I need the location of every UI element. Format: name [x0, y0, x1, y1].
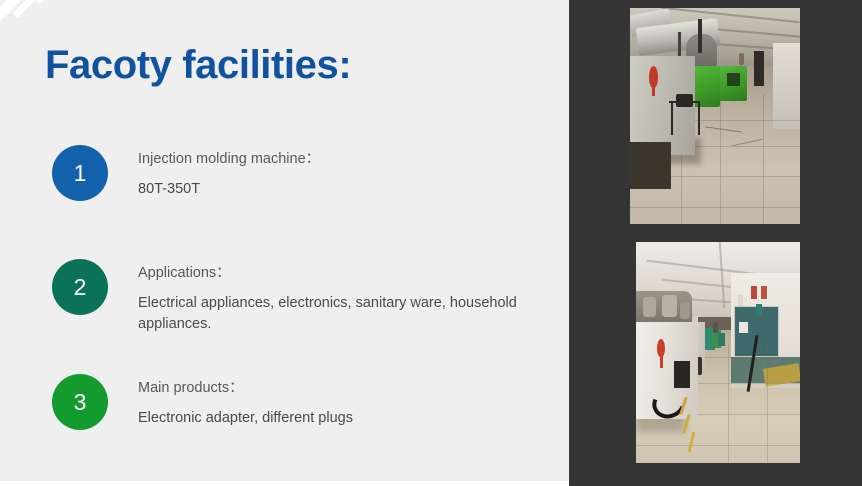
- photo1-motor-unit: [676, 94, 693, 107]
- list-item: 2 Applications： Electrical appliances, e…: [52, 259, 538, 335]
- photo2-wall-poster: [751, 286, 758, 299]
- factory-photo-bottom-content: [636, 242, 800, 463]
- photo1-floor-line: [763, 94, 764, 224]
- photo2-floor-line: [636, 445, 800, 446]
- factory-photo-top-content: [630, 8, 800, 224]
- photo1-post: [678, 32, 681, 58]
- item-text-block-1: Injection molding machine： 80T-350T: [138, 145, 320, 200]
- photo2-wall-poster: [756, 304, 763, 315]
- item-body-3: Electronic adapter, different plugs: [138, 408, 353, 429]
- item-number-badge-1: 1: [52, 145, 108, 201]
- photo2-person: [713, 322, 718, 333]
- left-content-panel: Facoty facilities: 1 Injection molding m…: [0, 0, 570, 481]
- photo1-table-leg: [671, 103, 673, 135]
- photo1-green-machine-panel: [727, 73, 741, 86]
- list-item: 1 Injection molding machine： 80T-350T: [52, 145, 320, 201]
- item-text-block-3: Main products： Electronic adapter, diffe…: [138, 374, 353, 429]
- factory-photo-top: [630, 8, 800, 224]
- item-text-block-2: Applications： Electrical appliances, ele…: [138, 259, 538, 335]
- photo2-machine-detail: [662, 295, 677, 317]
- numbered-list: 1 Injection molding machine： 80T-350T 2 …: [0, 0, 570, 481]
- photo1-right-wall: [773, 43, 800, 129]
- photo1-person: [739, 53, 744, 65]
- right-photo-panel: [569, 0, 862, 486]
- photo2-machine-detail: [680, 302, 690, 320]
- photo1-floor-line: [720, 99, 721, 224]
- photo1-red-marking: [649, 66, 658, 88]
- photo2-wall-poster: [761, 286, 768, 299]
- item-body-2: Electrical appliances, electronics, sani…: [138, 293, 538, 335]
- photo1-floor-line: [630, 207, 800, 208]
- photo2-machine-detail: [643, 297, 656, 317]
- factory-photo-bottom: [636, 242, 800, 463]
- list-item: 3 Main products： Electronic adapter, dif…: [52, 374, 353, 430]
- item-number-badge-3: 3: [52, 374, 108, 430]
- photo2-floor-line: [767, 344, 768, 463]
- photo2-board-paper: [739, 322, 747, 333]
- item-heading-1: Injection molding machine：: [138, 149, 320, 170]
- bottom-white-strip: [0, 481, 570, 486]
- photo2-floor-line: [728, 344, 729, 463]
- item-number-badge-2: 2: [52, 259, 108, 315]
- photo1-post: [698, 19, 702, 54]
- slide-root: Facoty facilities: 1 Injection molding m…: [0, 0, 862, 486]
- photo2-green-machine: [718, 333, 725, 346]
- photo2-wall-poster: [738, 295, 743, 306]
- photo1-left-machine-base: [630, 142, 671, 190]
- photo1-doorway: [754, 51, 764, 86]
- photo2-dark-box: [674, 361, 690, 388]
- item-heading-3: Main products：: [138, 378, 353, 399]
- photo1-table-leg: [698, 103, 700, 135]
- item-heading-2: Applications：: [138, 263, 538, 284]
- item-body-1: 80T-350T: [138, 179, 320, 200]
